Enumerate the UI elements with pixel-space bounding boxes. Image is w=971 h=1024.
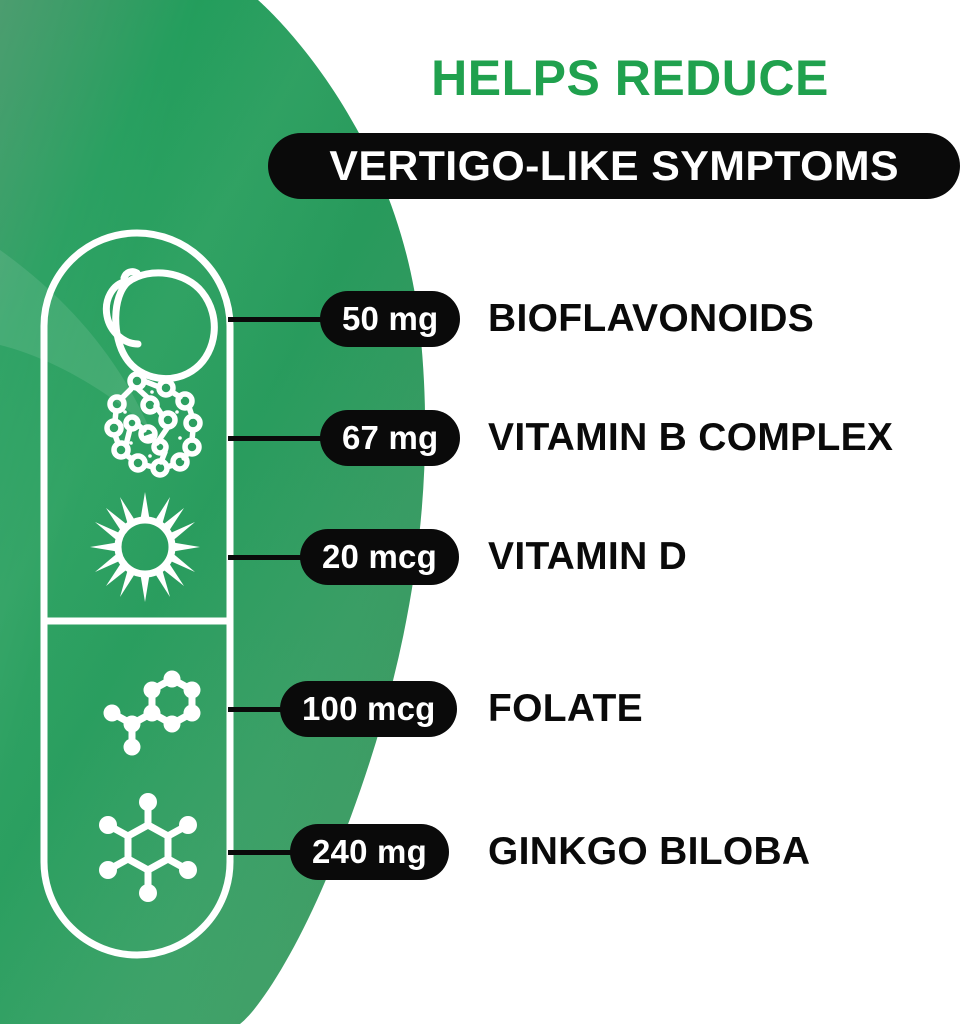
infographic-stage: HELPS REDUCE VERTIGO-LIKE SYMPTOMS 50 mg…	[0, 0, 971, 1024]
connector-line	[228, 317, 328, 322]
dose-badge[interactable]: 240 mg	[290, 824, 449, 880]
ingredient-name: VITAMIN D	[488, 529, 687, 585]
dose-value: 50 mg	[342, 300, 438, 338]
connector-line	[228, 707, 288, 712]
dose-badge[interactable]: 20 mcg	[300, 529, 459, 585]
ingredient-name: VITAMIN B COMPLEX	[488, 410, 893, 466]
connector-line	[228, 555, 308, 560]
dose-badge[interactable]: 100 mcg	[280, 681, 457, 737]
dose-value: 100 mcg	[302, 690, 435, 728]
ingredient-name: BIOFLAVONOIDS	[488, 291, 814, 347]
dose-badge[interactable]: 67 mg	[320, 410, 460, 466]
connector-line	[228, 850, 298, 855]
dose-value: 67 mg	[342, 419, 438, 457]
connector-line	[228, 436, 328, 441]
dose-badge[interactable]: 50 mg	[320, 291, 460, 347]
dose-value: 240 mg	[312, 833, 427, 871]
ingredient-name: FOLATE	[488, 681, 643, 737]
dose-value: 20 mcg	[322, 538, 437, 576]
ingredient-list: 50 mg BIOFLAVONOIDS 67 mg VITAMIN B COMP…	[0, 0, 971, 1024]
ingredient-name: GINKGO BILOBA	[488, 824, 810, 880]
